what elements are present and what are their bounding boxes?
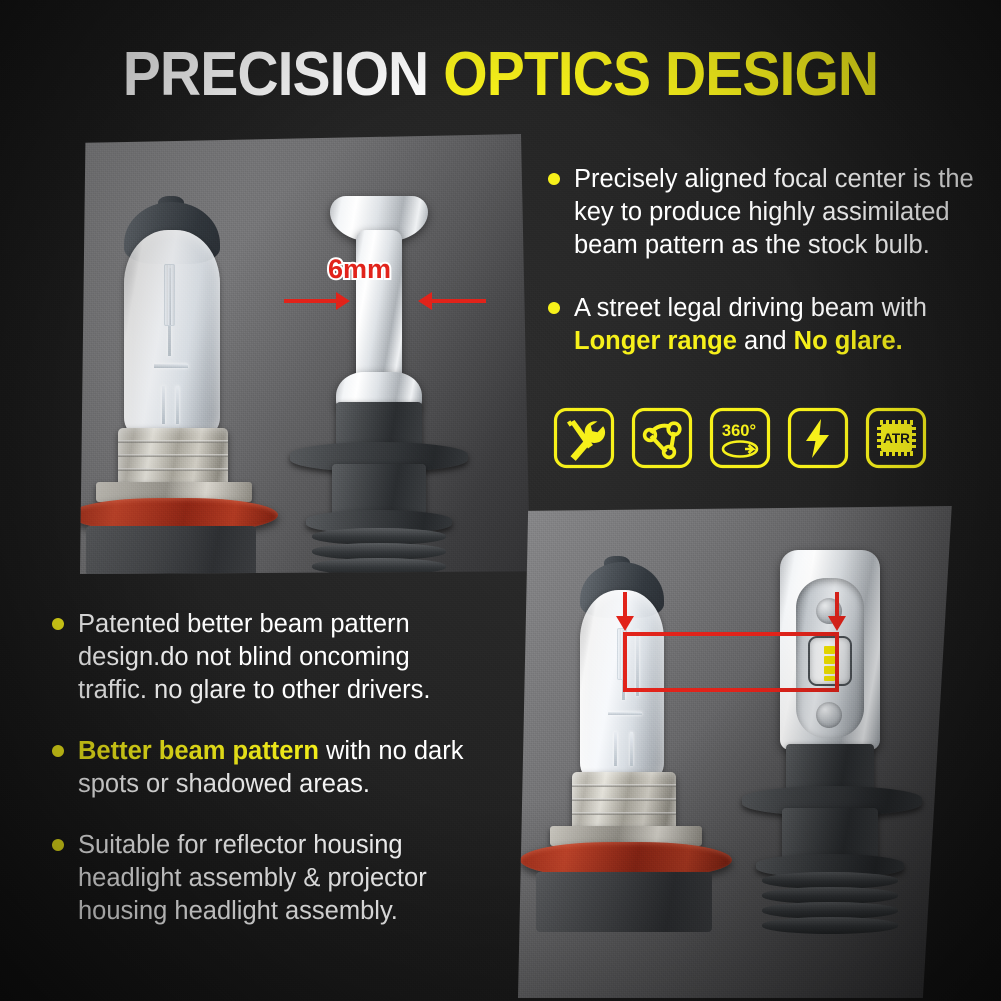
bullet-item: Patented better beam pattern design.do n… (52, 608, 472, 707)
bullet-dot-icon (52, 618, 64, 630)
dimension-arrow-left-line (284, 299, 338, 303)
alignment-line-lower (623, 688, 839, 692)
dimension-arrow-right-line (432, 299, 486, 303)
bullet-item: A street legal driving beam with Longer … (548, 292, 988, 358)
bullet-item: Better beam pattern with no dark spots o… (52, 735, 472, 801)
alignment-line-left-connector (623, 632, 627, 692)
bullet-text: Better beam pattern with no dark spots o… (78, 735, 472, 801)
bullet-dot-icon (548, 302, 560, 314)
rotation-360-label: 360° (722, 422, 756, 440)
page-title: PRECISION OPTICS DESIGN (40, 44, 961, 106)
tools-icon[interactable] (552, 406, 616, 470)
infographic-canvas: PRECISION OPTICS DESIGN (0, 0, 1001, 1001)
title-part-optics-design: OPTICS DESIGN (443, 40, 878, 109)
bullet-text: Suitable for reflector housing headlight… (78, 829, 472, 928)
atr-chip-icon[interactable]: ATR (864, 406, 928, 470)
panel-base-comparison: 6mm (80, 134, 530, 574)
bullet-text: Patented better beam pattern design.do n… (78, 608, 472, 707)
feature-icon-row: 360° (552, 406, 928, 470)
dimension-arrow-right-head (418, 292, 432, 310)
rotation-360-icon[interactable]: 360° (708, 406, 772, 470)
bullet-dot-icon (548, 173, 560, 185)
three-node-icon[interactable] (630, 406, 694, 470)
bullet-list-top-right: Precisely aligned focal center is the ke… (548, 163, 988, 388)
bullet-item: Suitable for reflector housing headlight… (52, 829, 472, 928)
alignment-line-right-connector (835, 632, 839, 692)
alignment-line-upper (623, 632, 839, 636)
bullet-dot-icon (52, 839, 64, 851)
bullet-text: A street legal driving beam with Longer … (574, 292, 988, 358)
bullet-item: Precisely aligned focal center is the ke… (548, 163, 988, 262)
title-part-precision: PRECISION (123, 40, 443, 109)
lightning-bolt-icon[interactable] (786, 406, 850, 470)
atr-chip-label: ATR (883, 431, 910, 446)
bullet-list-bottom-left: Patented better beam pattern design.do n… (52, 608, 472, 956)
alignment-arrow-left-head (616, 616, 634, 631)
bullet-dot-icon (52, 745, 64, 757)
dimension-label-6mm: 6mm (328, 256, 391, 283)
bullet-text: Precisely aligned focal center is the ke… (574, 163, 988, 262)
panel-focal-alignment (518, 506, 1000, 998)
dimension-arrow-left-head (336, 292, 350, 310)
alignment-arrow-right-head (828, 616, 846, 631)
